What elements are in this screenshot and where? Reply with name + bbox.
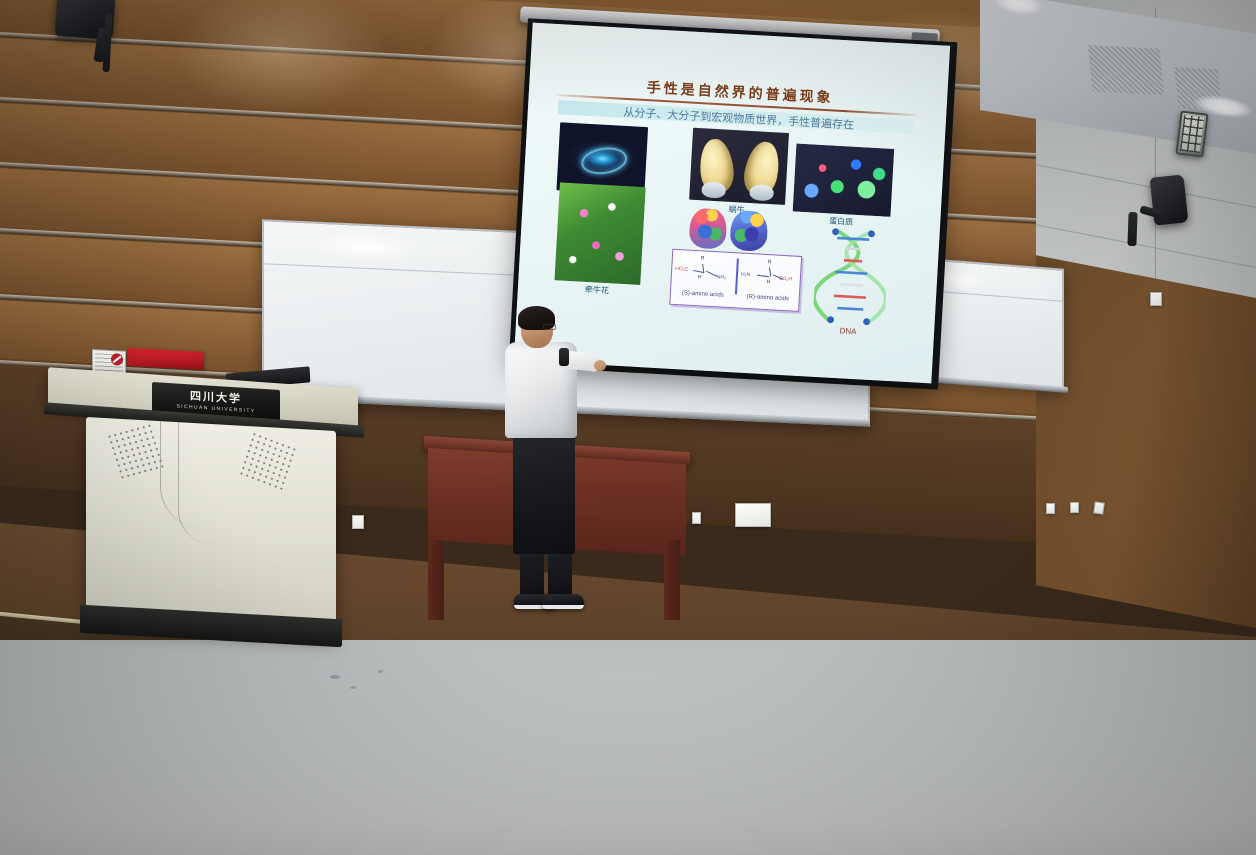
presenter-microphone bbox=[559, 348, 569, 366]
projection-screen[interactable]: 手性是自然界的普遍现象 从分子、大分子到宏观物质世界，手性普遍存在 星云 蜗牛 … bbox=[514, 23, 950, 384]
podium-body bbox=[86, 417, 336, 637]
no-smoking-icon bbox=[111, 353, 123, 366]
lecture-hall-photo: 手性是自然界的普遍现象 从分子、大分子到宏观物质世界，手性普遍存在 星云 蜗牛 … bbox=[0, 0, 1256, 855]
figure-protein bbox=[793, 144, 895, 217]
chem-structure-r: R H₂N H CO₂H bbox=[736, 255, 802, 290]
presenter-trousers bbox=[513, 432, 575, 554]
wall-paper-note bbox=[1046, 503, 1055, 514]
ceiling-light bbox=[994, 0, 1042, 18]
presenter-hand bbox=[594, 360, 606, 371]
figure-chiral-hands bbox=[688, 208, 768, 252]
atom-co2h-r: CO₂H bbox=[779, 276, 792, 283]
atom-h-s: H bbox=[698, 274, 702, 280]
side-wall-lower-wood bbox=[1036, 255, 1256, 630]
ceiling-acoustic-panel bbox=[1088, 45, 1164, 95]
atom-r-s: R bbox=[701, 255, 705, 261]
dna-helix-icon bbox=[812, 227, 889, 327]
wall-paper-note bbox=[735, 503, 771, 527]
wall-paper-note bbox=[1070, 502, 1079, 513]
chem-label-s: (S)-amino acids bbox=[671, 290, 735, 300]
figure-morning-glory bbox=[554, 182, 645, 285]
atom-nh2-s: NH₂ bbox=[717, 274, 726, 281]
presenter-shoe bbox=[542, 594, 584, 609]
atom-r-r: R bbox=[768, 259, 772, 265]
atom-h2n-r: H₂N bbox=[741, 272, 750, 279]
podium-speaker-grille bbox=[238, 430, 297, 491]
figure-dna bbox=[812, 227, 889, 327]
desk-leg bbox=[664, 540, 680, 621]
figure-amino-acid-box: R HO₂C H NH₂ R H₂N H CO₂H ( bbox=[669, 249, 802, 312]
atom-h-r: H bbox=[766, 279, 770, 285]
wall-lamp bbox=[1175, 110, 1208, 157]
wall-paper-note bbox=[1093, 501, 1105, 514]
desk-leg bbox=[428, 540, 444, 621]
wall-paper-note bbox=[692, 512, 701, 524]
chem-label-r: (R)-amino acids bbox=[736, 293, 800, 303]
wall-paper-note bbox=[1150, 292, 1162, 306]
speaker-pole bbox=[1127, 212, 1137, 246]
podium-speaker-grille bbox=[106, 423, 165, 481]
podium-cable bbox=[178, 422, 210, 544]
figure-snail bbox=[689, 128, 789, 205]
presenter-glasses bbox=[543, 324, 556, 330]
figure-dna-caption: DNA bbox=[812, 325, 884, 338]
figure-morning-glory-caption: 牵牛花 bbox=[554, 282, 640, 298]
chem-structure-s: R HO₂C H NH₂ bbox=[671, 252, 737, 287]
presentation-slide: 手性是自然界的普遍现象 从分子、大分子到宏观物质世界，手性普遍存在 星云 蜗牛 … bbox=[514, 23, 950, 384]
floor bbox=[0, 640, 1256, 855]
wall-speaker-right bbox=[1150, 174, 1189, 225]
wall-paper-note bbox=[352, 515, 364, 529]
atom-ho2c-s: HO₂C bbox=[675, 266, 688, 273]
